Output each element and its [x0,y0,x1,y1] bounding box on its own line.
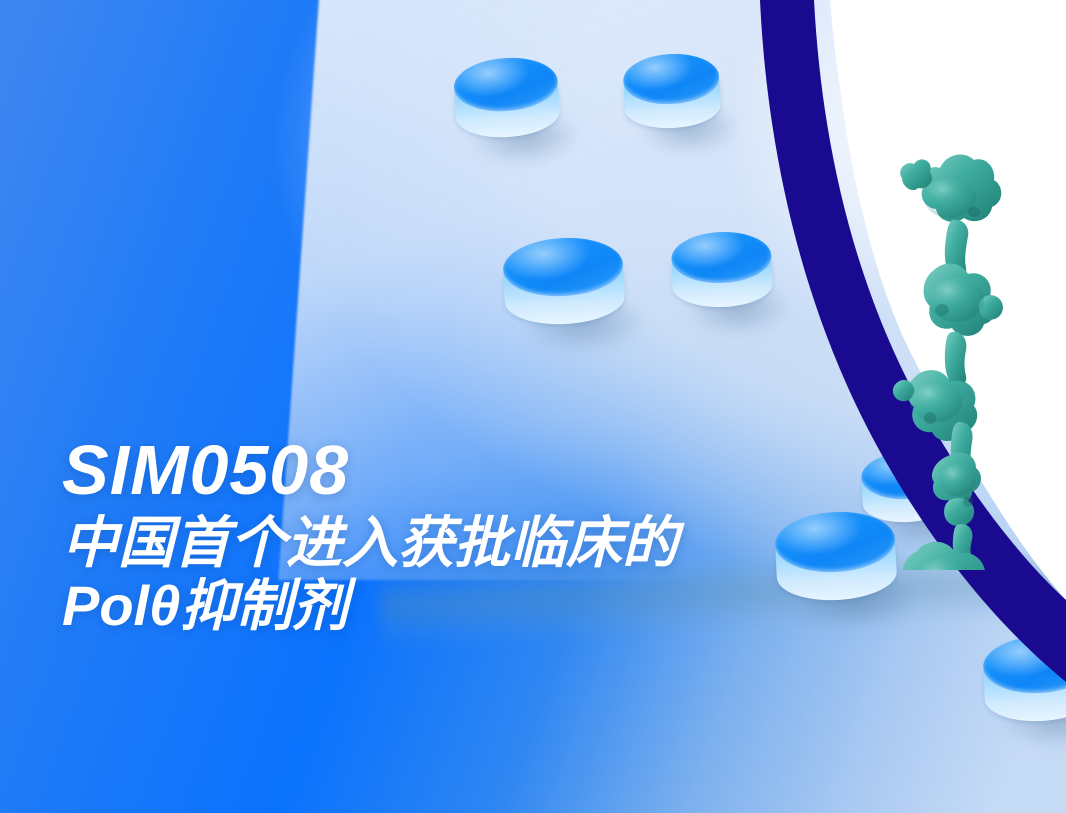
subtitle-line-2: Polθ抑制剂 [62,574,678,637]
headline-subtitle: 中国首个进入获批临床的 Polθ抑制剂 [62,511,678,638]
banner-canvas: SIM0508 中国首个进入获批临床的 Polθ抑制剂 [0,0,1066,813]
subtitle-line-1: 中国首个进入获批临床的 [62,511,678,574]
page-title: SIM0508 [62,436,678,505]
headline-block: SIM0508 中国首个进入获批临床的 Polθ抑制剂 [62,436,678,637]
protein-molecule [890,150,1060,570]
